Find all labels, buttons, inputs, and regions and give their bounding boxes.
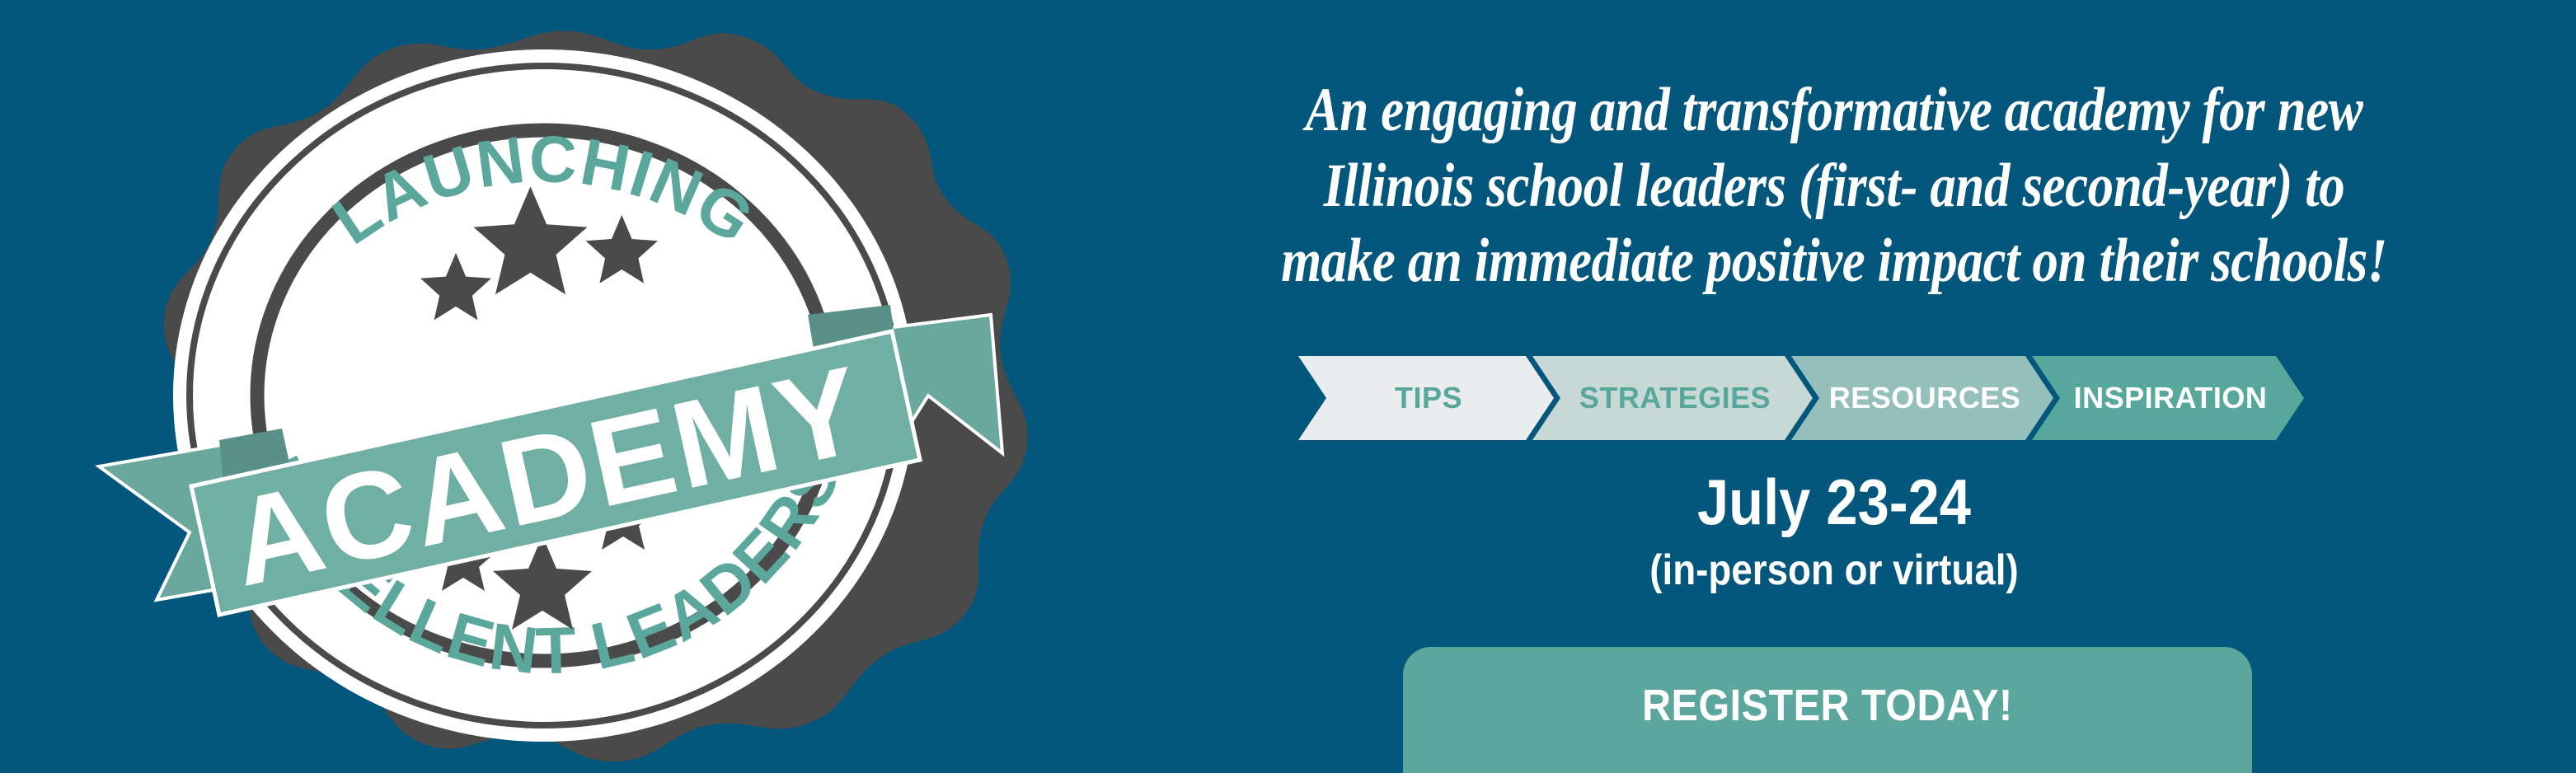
academy-seal-logo: LAUNCHING EXCELLENT LEADERS	[66, 8, 1039, 773]
headline-line-2: Illinois school leaders (first- and seco…	[1225, 148, 2443, 224]
register-today-label: REGISTER TODAY!	[1642, 680, 2013, 731]
chevron-tips[interactable]: TIPS	[1298, 356, 1554, 440]
feature-chevron-strip: TIPSSTRATEGIESRESOURCESINSPIRATION	[1298, 356, 2283, 440]
chevron-label: TIPS	[1395, 381, 1462, 415]
headline-line-1: An engaging and transformative academy f…	[1225, 73, 2443, 148]
chevron-label: STRATEGIES	[1579, 381, 1771, 415]
event-date-block: July 23-24 (in-person or virtual)	[1109, 470, 2560, 592]
event-format-note: (in-person or virtual)	[1196, 549, 2473, 592]
headline: An engaging and transformative academy f…	[1225, 73, 2443, 299]
chevron-label: RESOURCES	[1829, 381, 2021, 415]
banner-content: An engaging and transformative academy f…	[1088, 0, 2576, 773]
academy-promo-banner: LAUNCHING EXCELLENT LEADERS	[0, 0, 2576, 773]
chevron-strategies[interactable]: STRATEGIES	[1532, 356, 1813, 440]
chevron-resources[interactable]: RESOURCES	[1791, 356, 2053, 440]
register-today-button[interactable]: REGISTER TODAY!	[1403, 647, 2252, 773]
headline-line-3: make an immediate positive impact on the…	[1225, 223, 2443, 299]
event-date: July 23-24	[1196, 470, 2473, 534]
chevron-inspiration[interactable]: INSPIRATION	[2032, 356, 2304, 440]
chevron-label: INSPIRATION	[2074, 381, 2268, 415]
